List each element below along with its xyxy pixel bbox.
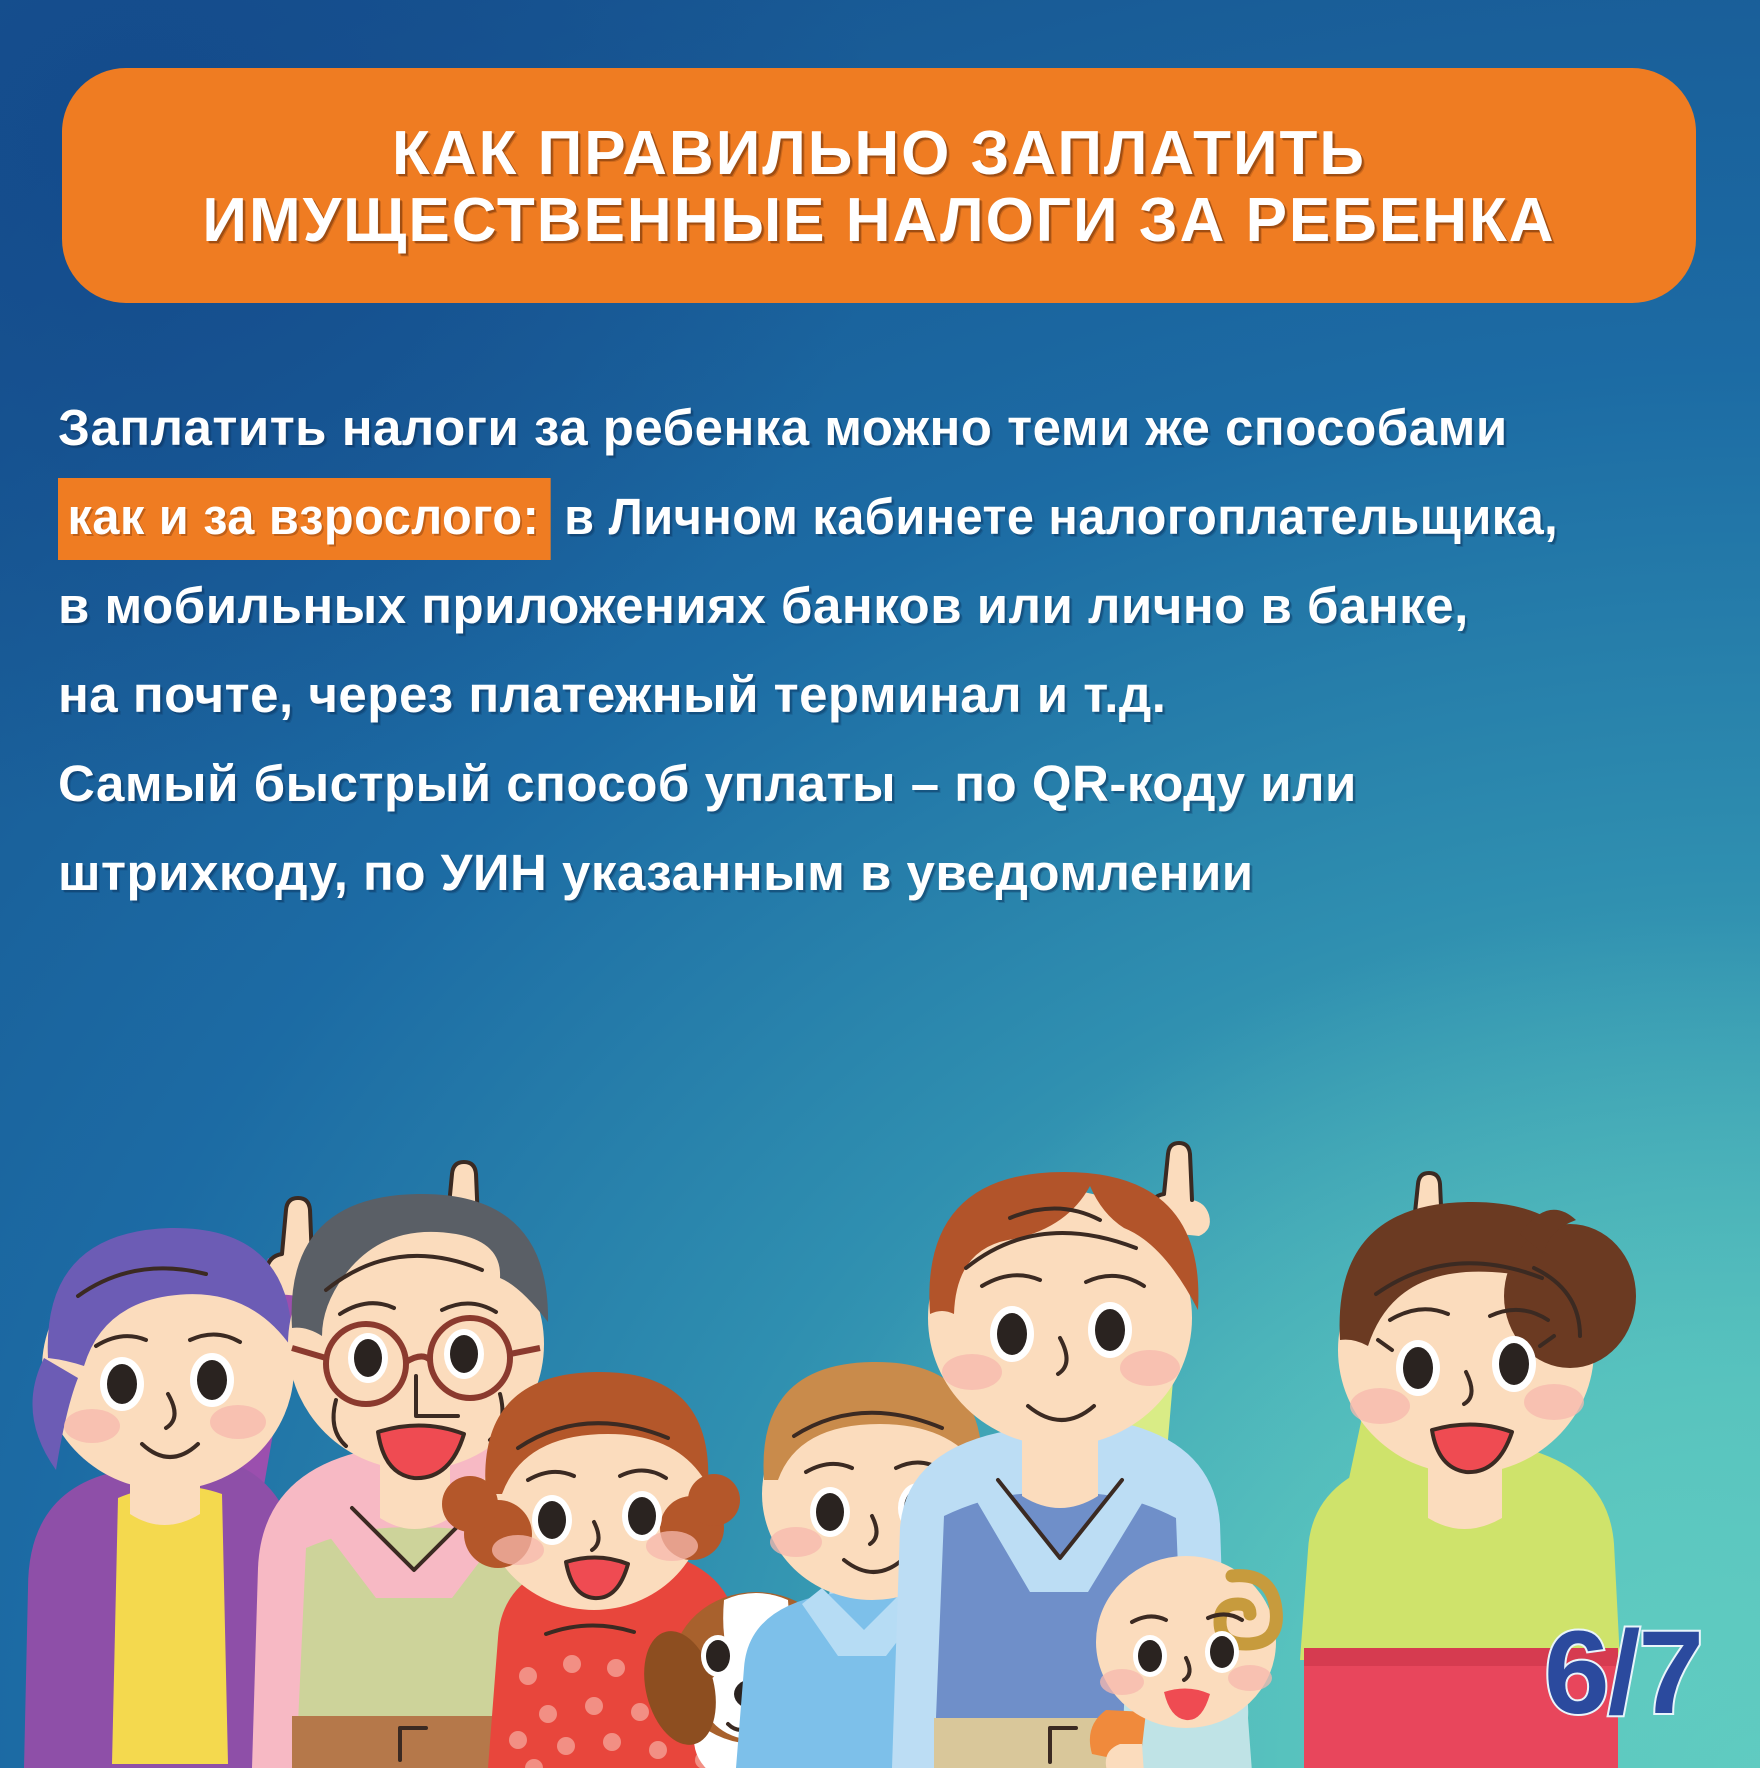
character-baby bbox=[1090, 1556, 1277, 1768]
character-dog bbox=[633, 1592, 881, 1768]
body-line-2: как и за взрослого: в Личном кабинете на… bbox=[58, 472, 1547, 561]
family-illustration: .ol { stroke:#3b2a22; stroke-width:4; st… bbox=[0, 1028, 1760, 1768]
body-line-1: Заплатить налоги за ребенка можно теми ж… bbox=[58, 383, 1508, 472]
body-text-block: Заплатить налоги за ребенка можно теми ж… bbox=[58, 383, 1618, 917]
character-grandfather bbox=[252, 1162, 586, 1768]
title-line-1: КАК ПРАВИЛЬНО ЗАПЛАТИТЬ bbox=[392, 121, 1366, 188]
body-line-5: Самый быстрый способ уплаты – по QR-коду… bbox=[58, 739, 1357, 828]
body-line-4: на почте, через платежный терминал и т.д… bbox=[58, 650, 1166, 739]
infographic-poster: КАК ПРАВИЛЬНО ЗАПЛАТИТЬ ИМУЩЕСТВЕННЫЕ НА… bbox=[0, 0, 1760, 1768]
character-boy bbox=[736, 1362, 984, 1768]
character-father bbox=[892, 1143, 1228, 1768]
highlighted-phrase: как и за взрослого: bbox=[58, 478, 551, 560]
character-grandmother bbox=[24, 1198, 331, 1768]
character-girl bbox=[442, 1372, 750, 1768]
body-line-6: штрихкоду, по УИН указанным в уведомлени… bbox=[58, 828, 1254, 917]
title-banner: КАК ПРАВИЛЬНО ЗАПЛАТИТЬ ИМУЩЕСТВЕННЫЕ НА… bbox=[62, 68, 1696, 303]
body-line-3: в мобильных приложениях банков или лично… bbox=[58, 561, 1469, 650]
title-line-2: ИМУЩЕСТВЕННЫЕ НАЛОГИ ЗА РЕБЕНКА bbox=[202, 188, 1555, 255]
page-indicator: 6/7 bbox=[1544, 1614, 1702, 1732]
body-line-2-rest: в Личном кабинете налогоплательщика, bbox=[564, 472, 1558, 561]
